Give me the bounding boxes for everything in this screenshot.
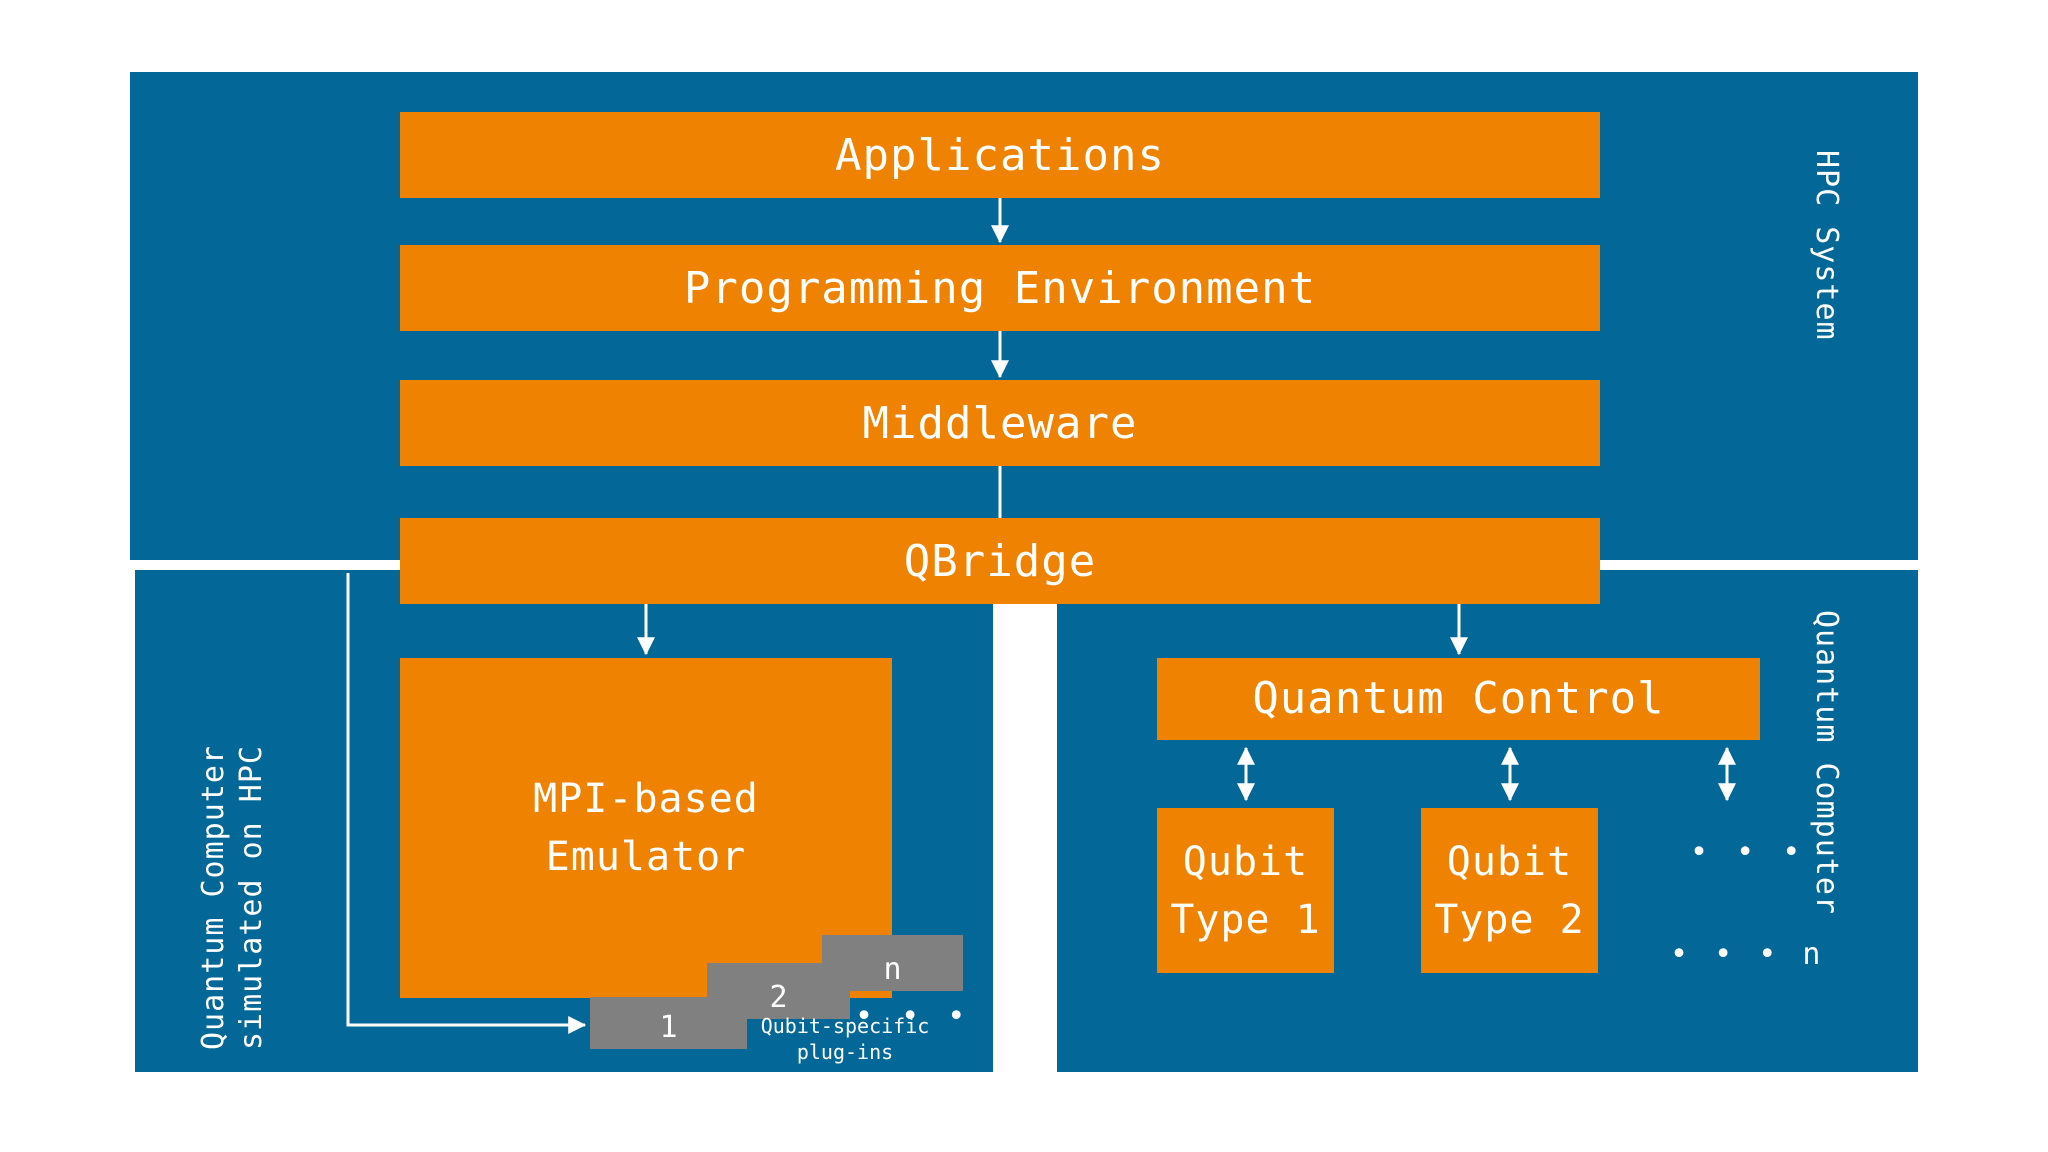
stack-bar-programming-environment[interactable]: Programming Environment bbox=[400, 245, 1600, 331]
box-quantum-control[interactable]: Quantum Control bbox=[1157, 658, 1760, 740]
panel-label-quantum-computer: Quantum Computer bbox=[1808, 610, 1846, 1050]
qubit-type-2-line1: Qubit bbox=[1447, 833, 1572, 891]
qubit-type-2-line2: Type 2 bbox=[1434, 891, 1585, 949]
panel-label-sim-line1: Quantum Computer bbox=[196, 745, 231, 1050]
box-mpi-based-emulator[interactable]: MPI-based Emulator bbox=[400, 658, 892, 998]
stack-bar-applications[interactable]: Applications bbox=[400, 112, 1600, 198]
box-qubit-type-2[interactable]: Qubit Type 2 bbox=[1421, 808, 1598, 973]
panel-vertical-divider bbox=[993, 560, 1057, 1072]
qubit-ellipsis-top-icon: • • • bbox=[1690, 838, 1805, 868]
plugin-caption-line1: Qubit-specific bbox=[745, 1013, 945, 1039]
emulator-label-line2: Emulator bbox=[546, 828, 747, 886]
box-qubit-type-1[interactable]: Qubit Type 1 bbox=[1157, 808, 1334, 973]
panel-label-sim-line2: simulated on HPC bbox=[233, 580, 271, 1050]
stack-bar-middleware[interactable]: Middleware bbox=[400, 380, 1600, 466]
emulator-label-line1: MPI-based bbox=[533, 770, 759, 828]
qubit-ellipsis-n-label: • • • n bbox=[1670, 940, 1824, 970]
plugin-box-1[interactable]: 1 bbox=[590, 997, 747, 1049]
panel-label-hpc-system: HPC System bbox=[1808, 150, 1846, 450]
diagram-canvas: HPC System Quantum Computer Quantum Comp… bbox=[0, 0, 2048, 1152]
stack-bar-qbridge[interactable]: QBridge bbox=[400, 518, 1600, 604]
plugin-caption: Qubit-specific plug-ins bbox=[745, 1013, 945, 1065]
qubit-type-1-line1: Qubit bbox=[1183, 833, 1308, 891]
plugin-caption-line2: plug-ins bbox=[745, 1039, 945, 1065]
qubit-type-1-line2: Type 1 bbox=[1170, 891, 1321, 949]
panel-label-quantum-computer-simulated: Quantum Computer simulated on HPC bbox=[195, 580, 270, 1050]
